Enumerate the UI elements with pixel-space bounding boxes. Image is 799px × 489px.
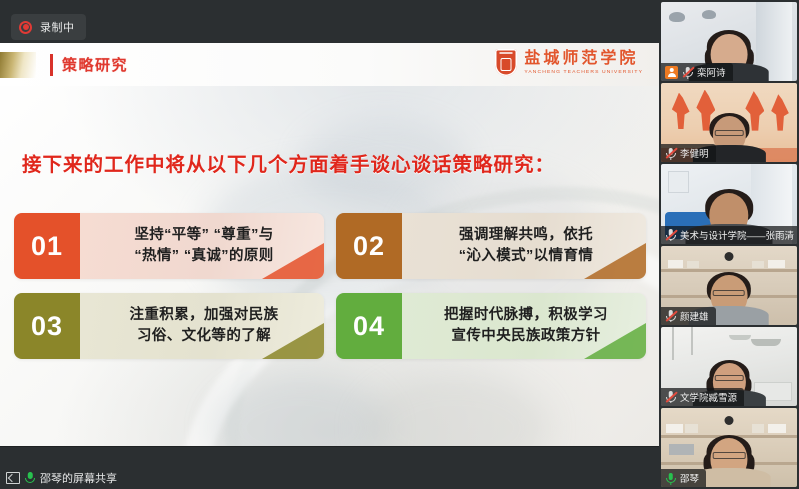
participant-name: 邵琴 (680, 471, 699, 485)
card-text-line2: 宣传中央民族政策方针 (416, 326, 636, 347)
shared-screen[interactable]: 策略研究 盐城师范学院 YANCHENG TEACHERS UNIVERSITY… (0, 43, 659, 446)
record-dot-icon (19, 21, 32, 34)
participant-tile[interactable]: 美术与设计学院——张雨清 (661, 164, 797, 243)
participant-name: 栾阿诗 (697, 65, 726, 79)
strategy-card-grid: 01 坚持“平等” “尊重”与 “热情” “真诚”的原则 02 (14, 213, 646, 359)
share-status-bar: 邵琴的屏幕共享 (0, 466, 659, 489)
screen-share-icon (6, 472, 20, 484)
slide-section-title: 策略研究 (62, 54, 128, 75)
participant-label: 栾阿诗 (661, 63, 733, 81)
card-body: 强调理解共鸣，依托 “沁入模式”以情育情 (402, 213, 646, 279)
presentation-slide: 策略研究 盐城师范学院 YANCHENG TEACHERS UNIVERSITY… (0, 43, 659, 446)
share-status-text: 邵琴的屏幕共享 (40, 470, 117, 486)
slide-header: 策略研究 盐城师范学院 YANCHENG TEACHERS UNIVERSITY (0, 43, 659, 86)
recording-label: 录制中 (40, 19, 75, 35)
card-text: 注重积累，加强对民族 习俗、文化等的了解 (94, 305, 314, 347)
card-text-line1: 注重积累，加强对民族 (94, 305, 314, 326)
participant-tile-active-speaker[interactable]: 邵琴 (661, 408, 797, 487)
strategy-card: 03 注重积累，加强对民族 习俗、文化等的了解 (14, 293, 324, 359)
recording-indicator[interactable]: 录制中 (11, 14, 86, 40)
participant-label: 邵琴 (661, 469, 706, 487)
card-number: 04 (336, 293, 402, 359)
logo-name-en: YANCHENG TEACHERS UNIVERSITY (524, 70, 643, 75)
card-body: 把握时代脉搏，积极学习 宣传中央民族政策方针 (402, 293, 646, 359)
microphone-muted-icon (665, 228, 676, 241)
card-text: 把握时代脉搏，积极学习 宣传中央民族政策方针 (416, 305, 636, 347)
card-text: 坚持“平等” “尊重”与 “热情” “真诚”的原则 (94, 225, 314, 267)
participant-name: 美术与设计学院——张雨清 (680, 228, 794, 242)
slide-bottom-divider (0, 446, 659, 447)
participant-tile[interactable]: 栾阿诗 (661, 2, 797, 81)
meeting-window: 录制中 策略研究 盐城师范学院 YANCHENG TEACHERS UNIVER (0, 0, 799, 489)
strategy-card: 01 坚持“平等” “尊重”与 “热情” “真诚”的原则 (14, 213, 324, 279)
strategy-card: 02 强调理解共鸣，依托 “沁入模式”以情育情 (336, 213, 646, 279)
gold-block-decor (0, 52, 36, 78)
shield-icon (495, 49, 517, 76)
avatar-icon (665, 66, 678, 79)
microphone-on-icon[interactable] (25, 471, 35, 484)
participant-label: 颜建雄 (661, 307, 716, 325)
card-text-line2: 习俗、文化等的了解 (94, 326, 314, 347)
participant-label: 美术与设计学院——张雨清 (661, 226, 797, 244)
participant-label: 文学院臧雪源 (661, 388, 744, 406)
university-logo: 盐城师范学院 YANCHENG TEACHERS UNIVERSITY (495, 49, 643, 76)
participant-name: 颜建雄 (680, 309, 709, 323)
red-accent-bar (50, 54, 53, 76)
card-text-line2: “热情” “真诚”的原则 (94, 246, 314, 267)
participant-tile[interactable]: 颜建雄 (661, 246, 797, 325)
card-number: 01 (14, 213, 80, 279)
slide-heading: 接下来的工作中将从以下几个方面着手谈心谈话策略研究： (22, 148, 555, 177)
participant-silhouette (696, 438, 761, 487)
card-text-line2: “沁入模式”以情育情 (416, 246, 636, 267)
microphone-muted-icon (665, 390, 676, 403)
card-text: 强调理解共鸣，依托 “沁入模式”以情育情 (416, 225, 636, 267)
participant-name: 李健明 (680, 146, 709, 160)
card-text-line1: 把握时代脉搏，积极学习 (416, 305, 636, 326)
microphone-muted-icon (682, 66, 693, 79)
participant-label: 李健明 (661, 144, 716, 162)
participant-video-rail: 栾阿诗 李健明 (659, 0, 799, 489)
card-text-line1: 强调理解共鸣，依托 (416, 225, 636, 246)
strategy-card: 04 把握时代脉搏，积极学习 宣传中央民族政策方针 (336, 293, 646, 359)
microphone-muted-icon (665, 147, 676, 160)
card-number: 03 (14, 293, 80, 359)
card-number: 02 (336, 213, 402, 279)
card-body: 注重积累，加强对民族 习俗、文化等的了解 (80, 293, 324, 359)
card-text-line1: 坚持“平等” “尊重”与 (94, 225, 314, 246)
microphone-muted-icon (665, 309, 676, 322)
card-body: 坚持“平等” “尊重”与 “热情” “真诚”的原则 (80, 213, 324, 279)
logo-name-cn: 盐城师范学院 (524, 51, 643, 67)
participant-name: 文学院臧雪源 (680, 390, 737, 404)
microphone-on-icon (665, 472, 676, 485)
participant-tile[interactable]: 李健明 (661, 83, 797, 162)
participant-tile[interactable]: 文学院臧雪源 (661, 327, 797, 406)
